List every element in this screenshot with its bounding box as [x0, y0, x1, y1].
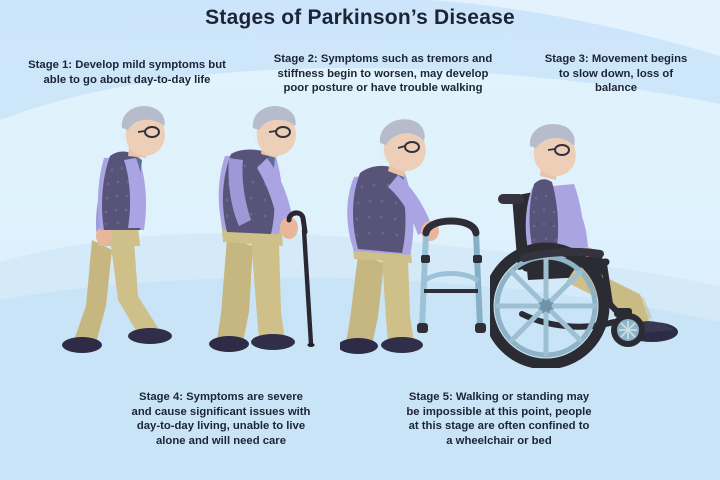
stage-5-caption: Stage 5: Walking or standing may be impo…	[368, 390, 630, 448]
stage-5-line-2: be impossible at this point, people	[368, 405, 630, 420]
walker-frame-icon	[417, 221, 486, 333]
page-title: Stages of Parkinson’s Disease	[0, 6, 720, 30]
stage-5-figure-man-in-wheelchair	[490, 118, 690, 368]
stage-1-caption: Stage 1: Develop mild symptoms but able …	[8, 58, 246, 87]
stage-4-caption: Stage 4: Symptoms are severe and cause s…	[92, 390, 350, 448]
stage-5-line-3: at this stage are often confined to	[368, 419, 630, 434]
stage-3-figure-man-with-walker	[340, 105, 505, 363]
stage-2-line-2: stiffness begin to worsen, may develop	[252, 67, 514, 82]
infographic-canvas: Stages of Parkinson’s Disease Stage 1: D…	[0, 0, 720, 480]
stage-1-line-2: able to go about day-to-day life	[8, 73, 246, 88]
stage-2-line-1: Stage 2: Symptoms such as tremors and	[252, 52, 514, 67]
stage-1-figure-walking-man	[52, 100, 182, 362]
stage-3-line-3: balance	[516, 81, 716, 96]
stage-1-line-1: Stage 1: Develop mild symptoms but	[8, 58, 246, 73]
stage-4-line-4: alone and will need care	[92, 434, 350, 449]
stage-2-caption: Stage 2: Symptoms such as tremors and st…	[252, 52, 514, 96]
stage-4-line-3: day-to-day living, unable to live	[92, 419, 350, 434]
stage-5-line-4: a wheelchair or bed	[368, 434, 630, 449]
stage-2-figure-man-with-cane	[205, 100, 355, 362]
stage-3-caption: Stage 3: Movement begins to slow down, l…	[516, 52, 716, 96]
stage-4-line-1: Stage 4: Symptoms are severe	[92, 390, 350, 405]
stage-5-line-1: Stage 5: Walking or standing may	[368, 390, 630, 405]
stage-4-line-2: and cause significant issues with	[92, 405, 350, 420]
stage-3-line-1: Stage 3: Movement begins	[516, 52, 716, 67]
stage-3-line-2: to slow down, loss of	[516, 67, 716, 82]
stage-2-line-3: poor posture or have trouble walking	[252, 81, 514, 96]
